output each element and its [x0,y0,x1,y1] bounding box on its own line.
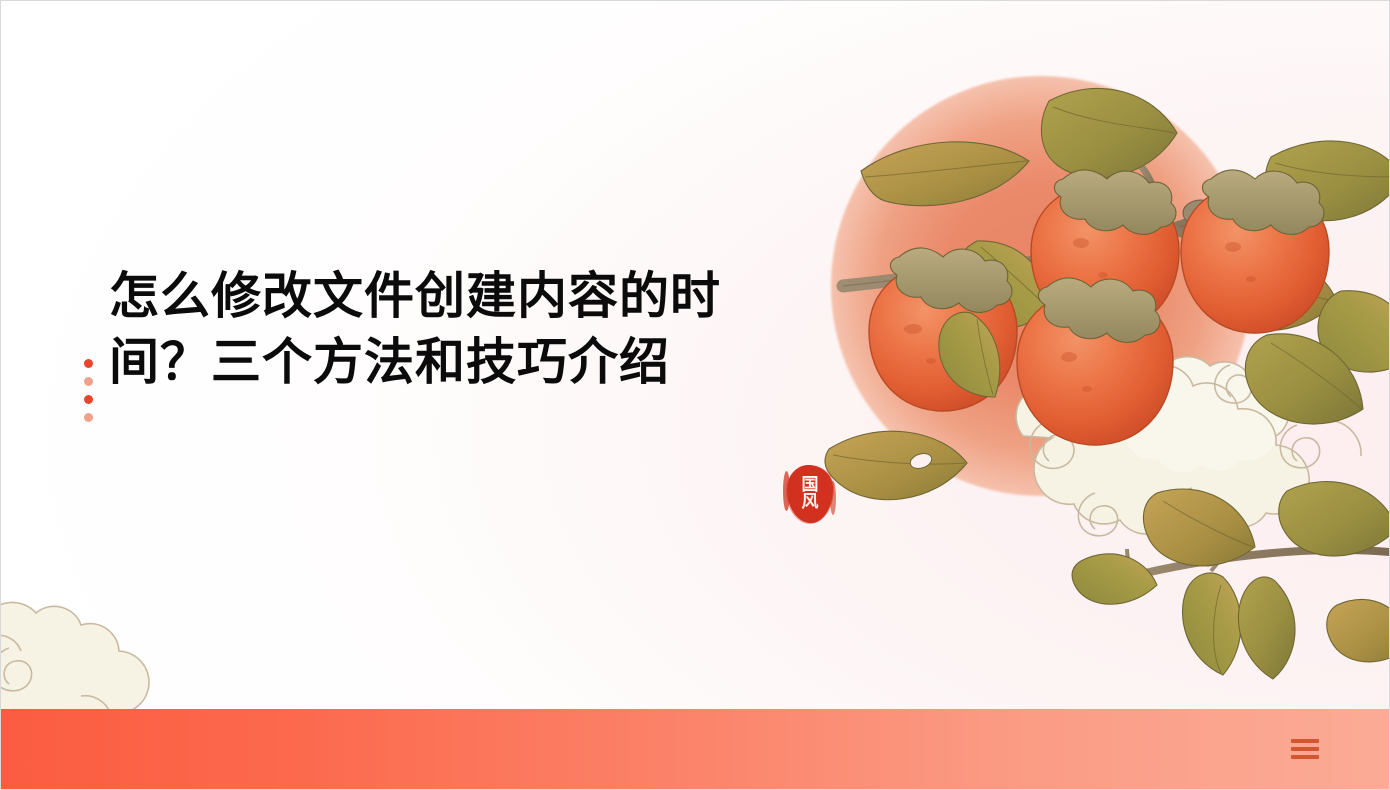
decorative-dot [84,395,93,404]
menu-bar-1 [1291,739,1319,743]
decorative-dot [84,377,93,386]
title-line-1: 怎么修改文件创建内容的时 [109,263,879,329]
seal-characters: 国 风 [787,465,833,523]
seal-char-bottom: 风 [802,494,819,511]
guofeng-seal-stamp: 国 风 [787,465,833,523]
title-line-2: 间？三个方法和技巧介绍 [109,329,879,395]
decorative-dot [84,413,93,422]
menu-bar-3 [1291,755,1319,759]
footer-bar [1,709,1389,789]
hamburger-menu-icon[interactable] [1291,734,1325,764]
decorative-dot [84,359,93,368]
presentation-slide: 国 风 怎么修改文件创建内容的时 间？三个方法和技巧介绍 [0,0,1390,790]
decorative-dot-group [84,359,93,422]
slide-title: 怎么修改文件创建内容的时 间？三个方法和技巧介绍 [109,263,879,395]
menu-bar-2 [1291,747,1319,751]
